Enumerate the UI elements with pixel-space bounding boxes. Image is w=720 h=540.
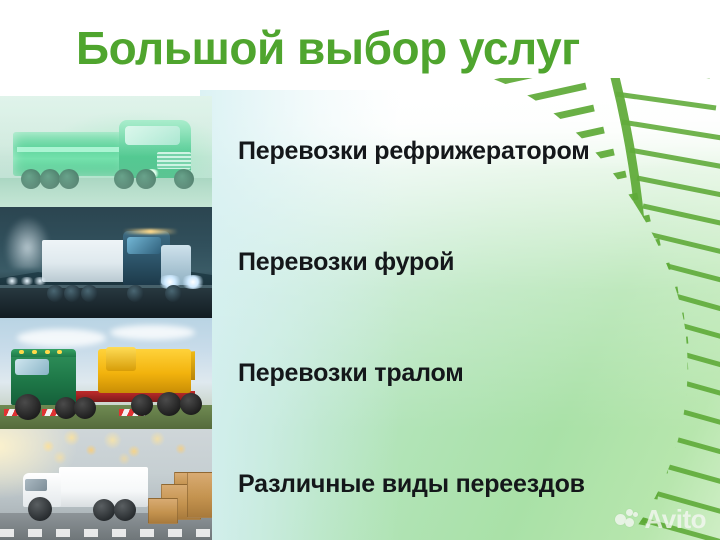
poster-canvas: Большой выбор услуг bbox=[0, 0, 720, 540]
photo-2-distant-light bbox=[4, 277, 20, 285]
photo-3-windshield bbox=[15, 359, 49, 375]
service-item-semi-trailer: Перевозки фурой bbox=[238, 207, 708, 318]
photo-4-scene bbox=[0, 429, 212, 540]
photo-4-cardboard-box bbox=[187, 472, 212, 518]
photo-lowboy-with-dumper bbox=[0, 318, 212, 429]
photo-2-roof-lights bbox=[123, 229, 178, 234]
page-title: Большой выбор услуг bbox=[76, 24, 580, 72]
photo-2-wheel bbox=[81, 285, 98, 302]
service-item-lowboy: Перевозки тралом bbox=[238, 318, 708, 429]
photo-box-truck-with-boxes bbox=[0, 429, 212, 540]
photo-2-wheel bbox=[64, 285, 81, 302]
photo-strip bbox=[0, 96, 212, 540]
photo-3-marker-light bbox=[45, 350, 50, 354]
service-item-refrigerated: Перевозки рефрижератором bbox=[238, 96, 708, 207]
photo-3-dumper-cab bbox=[106, 347, 136, 371]
photo-3-scene bbox=[0, 318, 212, 429]
photo-3-cloud bbox=[110, 325, 195, 341]
photo-3-wheel bbox=[180, 393, 202, 415]
photo-2-windshield bbox=[127, 237, 161, 254]
avito-dot bbox=[625, 518, 634, 527]
avito-wordmark: Avito bbox=[644, 506, 706, 532]
photo-3-wheel bbox=[131, 394, 153, 416]
photo-night-highway-truck bbox=[0, 207, 212, 318]
photo-4-crosswalk bbox=[0, 529, 212, 537]
photo-2-trailer bbox=[42, 240, 127, 282]
photo-2-distant-light bbox=[32, 277, 48, 285]
photo-4-wheel bbox=[28, 497, 52, 521]
avito-dot bbox=[626, 509, 633, 516]
service-list: Перевозки рефрижератором Перевозки фурой… bbox=[238, 96, 708, 540]
photo-2-scene bbox=[0, 207, 212, 318]
photo-4-cardboard-box bbox=[148, 498, 178, 524]
avito-logo-icon bbox=[615, 509, 639, 529]
photo-3-cloud bbox=[17, 329, 106, 347]
photo-4-windshield bbox=[25, 479, 46, 491]
avito-dot bbox=[633, 512, 638, 517]
photo-green-refrigerator-truck bbox=[0, 96, 212, 207]
photo-1-scene bbox=[0, 96, 212, 207]
photo-3-wheel bbox=[157, 392, 181, 416]
photo-1-mist bbox=[0, 96, 212, 207]
photo-3-marker-light bbox=[32, 350, 37, 354]
avito-watermark: Avito bbox=[615, 506, 706, 532]
photo-2-wheel bbox=[47, 285, 64, 302]
photo-3-wheel bbox=[15, 394, 41, 420]
